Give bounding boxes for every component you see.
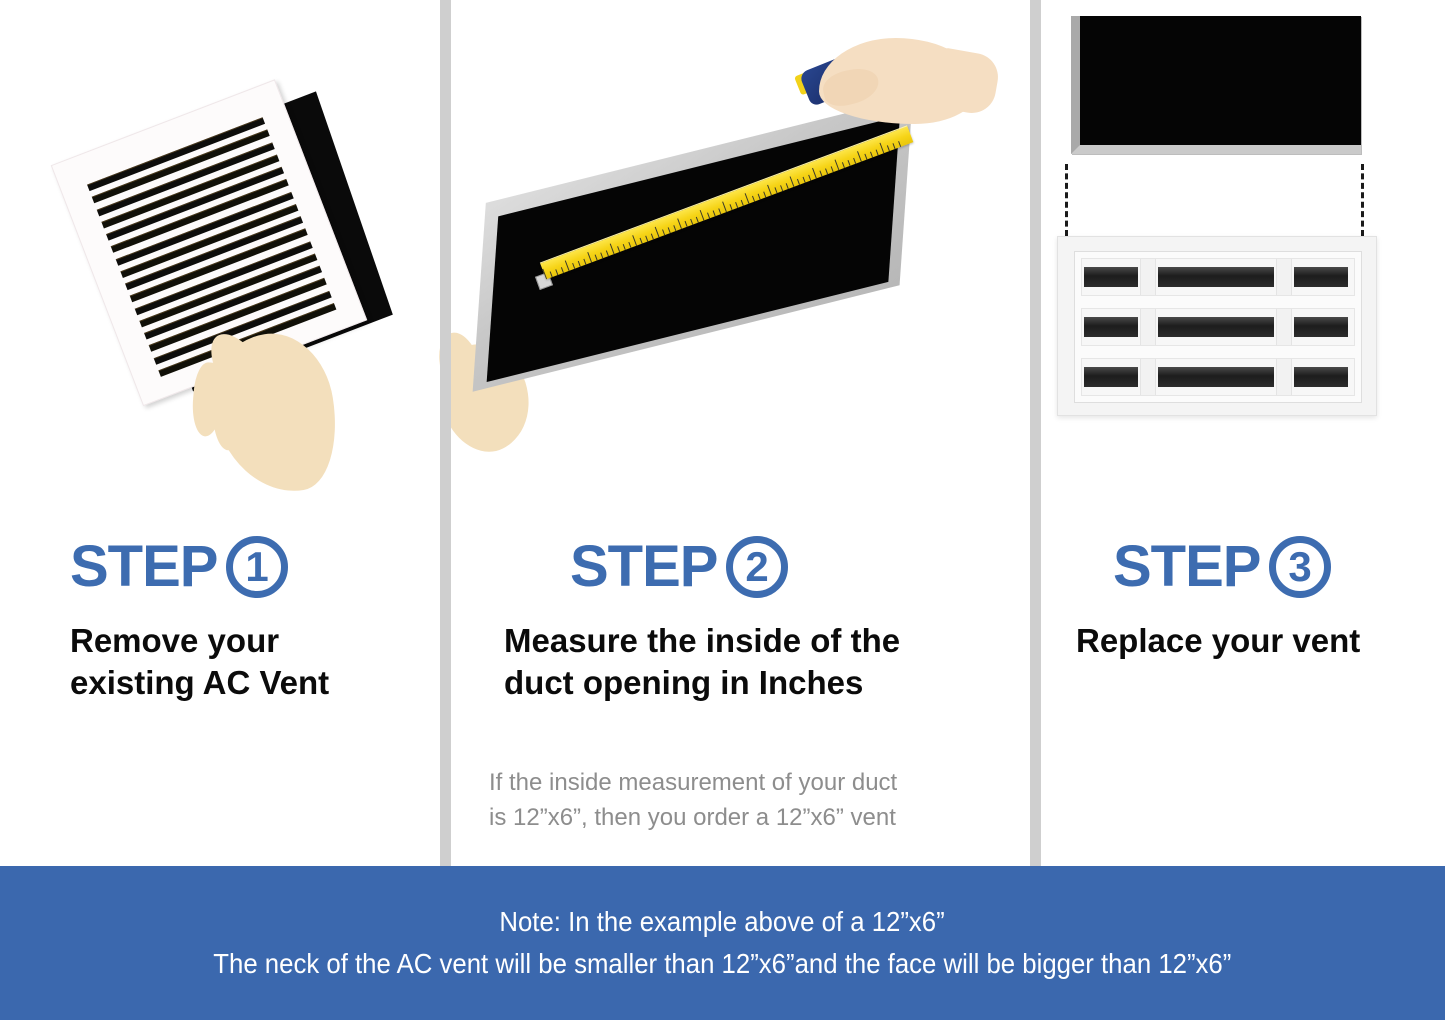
louver-post: [1276, 359, 1292, 395]
louver-blade: [1294, 367, 1348, 387]
step-2-text-block: STEP 2 Measure the inside of the duct op…: [451, 536, 1030, 836]
note-banner-line-2: The neck of the AC vent will be smaller …: [213, 943, 1231, 985]
step-1-title-line-1: Remove your: [70, 620, 440, 662]
louver-blade: [1084, 367, 1138, 387]
louver-row: [1081, 308, 1355, 346]
panel-divider-1: [440, 0, 451, 866]
step-2-illustration: [451, 0, 1030, 520]
louver-blade: [1158, 367, 1274, 387]
step-2-number-badge: 2: [726, 536, 788, 598]
louver-post: [1276, 259, 1292, 295]
step-1-label: STEP: [70, 538, 218, 596]
step-3-text-block: STEP 3 Replace your vent: [1041, 536, 1445, 662]
alignment-dashed-line-right: [1361, 164, 1364, 236]
step-3-title-line-1: Replace your vent: [1076, 620, 1445, 662]
louver-blade: [1084, 267, 1138, 287]
louver-row: [1081, 258, 1355, 296]
louver-row: [1081, 358, 1355, 396]
step-2-title-line-1: Measure the inside of the: [504, 620, 1030, 662]
step-3-title: Replace your vent: [1041, 620, 1445, 662]
vent-grille-assembly: [51, 69, 402, 426]
step-panel-2: STEP 2 Measure the inside of the duct op…: [451, 0, 1030, 866]
step-3-heading: STEP 3: [1041, 536, 1445, 598]
step-3-label: STEP: [1113, 538, 1261, 596]
vent-face: [1074, 251, 1362, 403]
duct-opening: [1071, 16, 1361, 154]
note-banner: Note: In the example above of a 12”x6” T…: [0, 866, 1445, 1020]
step-1-title: Remove your existing AC Vent: [0, 620, 440, 704]
alignment-dashed-line-left: [1065, 164, 1068, 236]
louver-blade: [1294, 317, 1348, 337]
step-2-title: Measure the inside of the duct opening i…: [451, 620, 1030, 704]
step-1-number-badge: 1: [226, 536, 288, 598]
louver-blade: [1084, 317, 1138, 337]
vent-louver-group: [87, 117, 336, 377]
step-1-illustration: [0, 0, 440, 520]
louver-blade: [1294, 267, 1348, 287]
louver-post: [1140, 259, 1156, 295]
louver-blade: [1158, 317, 1274, 337]
step-2-note: If the inside measurement of your duct i…: [451, 766, 1030, 836]
step-panel-3: STEP 3 Replace your vent: [1041, 0, 1445, 866]
step-2-note-line-2: is 12”x6”, then you order a 12”x6” vent: [489, 801, 1030, 836]
step-2-note-line-1: If the inside measurement of your duct: [489, 766, 1030, 801]
step-panel-1: STEP 1 Remove your existing AC Vent: [0, 0, 440, 866]
step-2-label: STEP: [570, 538, 718, 596]
step-1-text-block: STEP 1 Remove your existing AC Vent: [0, 536, 440, 704]
louver-post: [1140, 359, 1156, 395]
louver-blade: [1158, 267, 1274, 287]
step-2-heading: STEP 2: [451, 536, 1030, 598]
step-3-illustration: [1041, 0, 1445, 520]
step-1-heading: STEP 1: [0, 536, 440, 598]
instruction-infographic: STEP 1 Remove your existing AC Vent: [0, 0, 1445, 1020]
louver-post: [1140, 309, 1156, 345]
replacement-vent: [1057, 236, 1377, 416]
louver-post: [1276, 309, 1292, 345]
step-3-number-badge: 3: [1269, 536, 1331, 598]
note-banner-line-1: Note: In the example above of a 12”x6”: [500, 901, 945, 943]
panel-divider-2: [1030, 0, 1041, 866]
step-2-title-line-2: duct opening in Inches: [504, 662, 1030, 704]
step-1-title-line-2: existing AC Vent: [70, 662, 440, 704]
